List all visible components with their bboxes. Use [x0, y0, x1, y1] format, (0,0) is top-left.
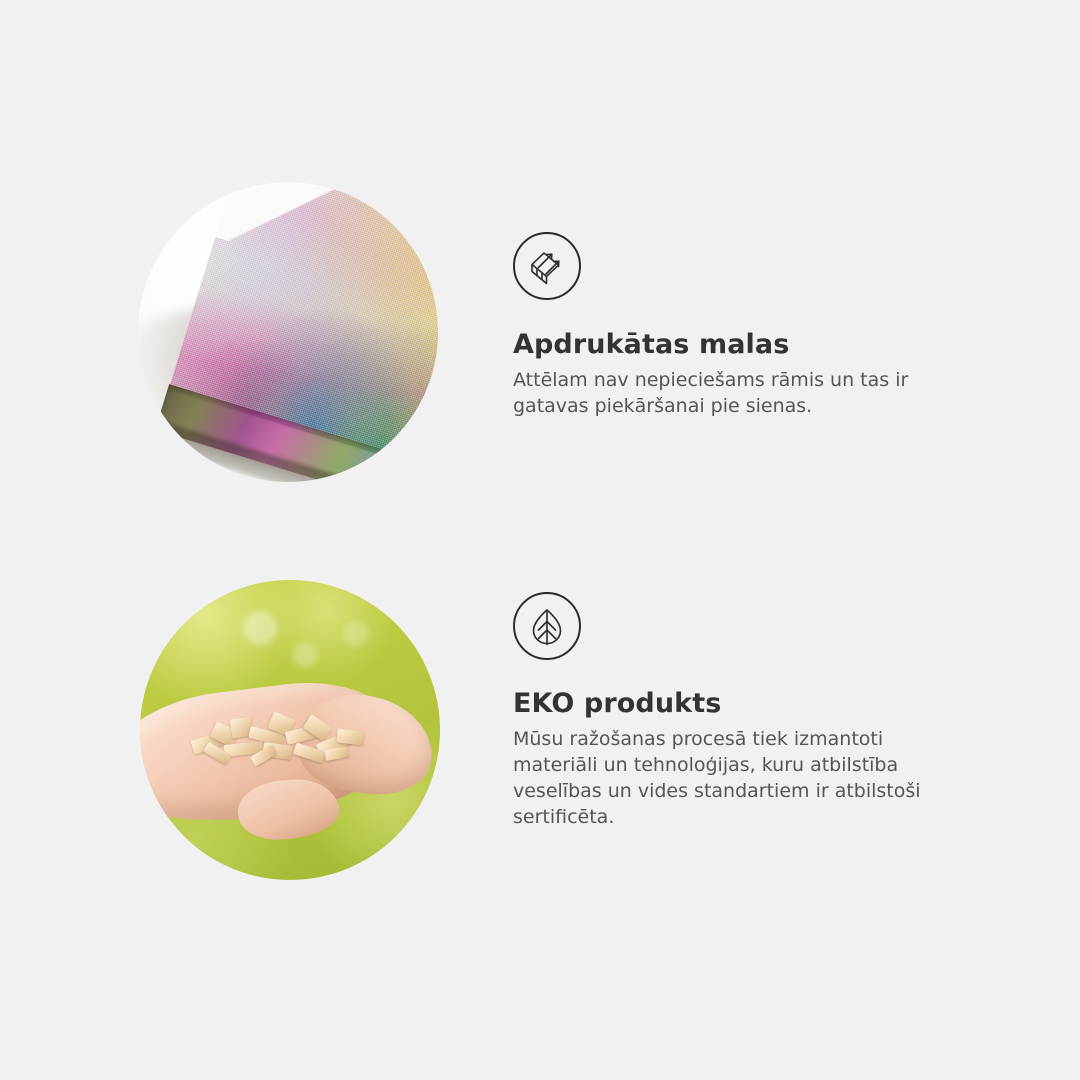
feature-title: EKO produkts [513, 688, 921, 720]
feature-block-eco-product [0, 560, 440, 880]
hands-holding-chips [140, 658, 440, 832]
feature-title: Apdrukātas malas [513, 329, 908, 361]
canvas-corner-photo [138, 182, 438, 482]
feature-block-printed-edges [0, 160, 438, 482]
eco-wood-chips-photo [140, 580, 440, 880]
feature-text-eco-product: EKO produkts Mūsu ražošanas procesā tiek… [513, 592, 921, 830]
feature-text-printed-edges: Apdrukātas malas Attēlam nav nepieciešam… [513, 232, 908, 419]
printed-edges-icon [513, 232, 581, 300]
feature-description: Mūsu ražošanas procesā tiek izmantoti ma… [513, 726, 921, 830]
leaf-icon [513, 592, 581, 660]
wood-chips-pile [185, 714, 380, 770]
feature-description: Attēlam nav nepieciešams rāmis un tas ir… [513, 367, 908, 419]
product-feature-page: Apdrukātas malas Attēlam nav nepieciešam… [0, 0, 1080, 1080]
